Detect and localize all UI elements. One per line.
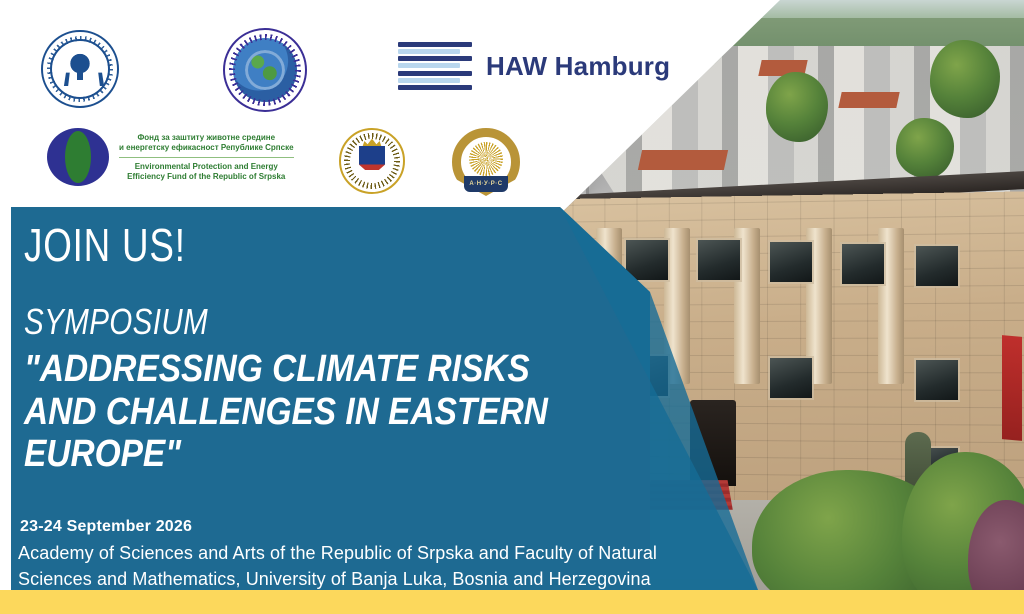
- fund-cyrillic-line-2: и енергетску ефикасност Републике Српске: [119, 143, 294, 153]
- fund-english-line-2: Efficiency Fund of the Republic of Srpsk…: [119, 172, 294, 182]
- photo-window: [770, 242, 812, 282]
- photo-window: [842, 244, 884, 284]
- event-venue: Academy of Sciences and Arts of the Repu…: [18, 540, 718, 592]
- fund-cyrillic-line-1: Фонд за заштиту животне средине: [119, 133, 294, 143]
- logo-university-of-banja-luka[interactable]: [41, 30, 115, 104]
- faculty-of-natural-sciences-and-mathematics-seal: [223, 28, 307, 112]
- venue-line-2: Sciences and Mathematics, University of …: [18, 566, 718, 592]
- event-date: 23-24 September 2026: [20, 518, 192, 536]
- photo-window: [916, 360, 958, 400]
- republika-srpska-coat-of-arms: [339, 128, 405, 194]
- university-of-banja-luka-seal: [41, 30, 119, 108]
- globe-icon: [245, 50, 285, 90]
- event-type-label: SYMPOSIUM: [24, 304, 549, 340]
- title-line-2: AND CHALLENGES IN EASTERN: [24, 391, 587, 434]
- partner-logo-bar: HAW Hamburg Фонд за заштиту животне сред…: [0, 0, 700, 205]
- photo-window: [698, 240, 740, 280]
- photo-red-roof: [838, 92, 899, 108]
- fund-divider: [119, 157, 294, 158]
- venue-line-1: Academy of Sciences and Arts of the Repu…: [18, 540, 718, 566]
- open-book-banner: А·Н·У·Р·С: [464, 176, 508, 192]
- logo-academy-of-sciences-and-arts[interactable]: А·Н·У·Р·С: [452, 128, 520, 196]
- logo-government-of-republika-srpska[interactable]: [339, 128, 401, 190]
- academy-of-sciences-and-arts-of-republika-srpska-emblem: А·Н·У·Р·С: [452, 128, 520, 196]
- fund-text-block: Фонд за заштиту животне средине и енерге…: [119, 133, 294, 182]
- title-line-3: EUROPE": [24, 433, 587, 476]
- fund-ellipse-icon: [47, 128, 109, 186]
- fund-english-line-1: Environmental Protection and Energy: [119, 162, 294, 172]
- poster-copy-block: JOIN US! SYMPOSIUM "ADDRESSING CLIMATE R…: [24, 222, 664, 476]
- photo-window: [916, 246, 958, 286]
- kicker-join-us: JOIN US!: [24, 222, 536, 268]
- photo-tree: [930, 40, 1000, 118]
- photo-flag-red: [1002, 335, 1022, 441]
- footer-yellow-bar: [0, 590, 1024, 614]
- photo-tree: [766, 72, 828, 142]
- logo-haw-hamburg[interactable]: HAW Hamburg: [398, 40, 638, 92]
- sunburst-icon: [469, 142, 503, 176]
- logo-environmental-protection-energy-efficiency-fund[interactable]: Фонд за заштиту животне средине и енерге…: [47, 126, 327, 188]
- title-line-1: "ADDRESSING CLIMATE RISKS: [24, 348, 587, 391]
- photo-tree: [896, 118, 954, 178]
- photo-window: [770, 358, 812, 398]
- logo-faculty-natural-sciences-mathematics[interactable]: [223, 28, 303, 108]
- symposium-title: "ADDRESSING CLIMATE RISKS AND CHALLENGES…: [24, 348, 587, 476]
- seal-emblem: [63, 52, 97, 86]
- haw-hamburg-wordmark: HAW Hamburg: [486, 51, 670, 82]
- symposium-announcement-poster: HAW Hamburg Фонд за заштиту животне сред…: [0, 0, 1024, 614]
- haw-bars-icon: [398, 42, 472, 90]
- anurs-banner-text: А·Н·У·Р·С: [469, 181, 502, 187]
